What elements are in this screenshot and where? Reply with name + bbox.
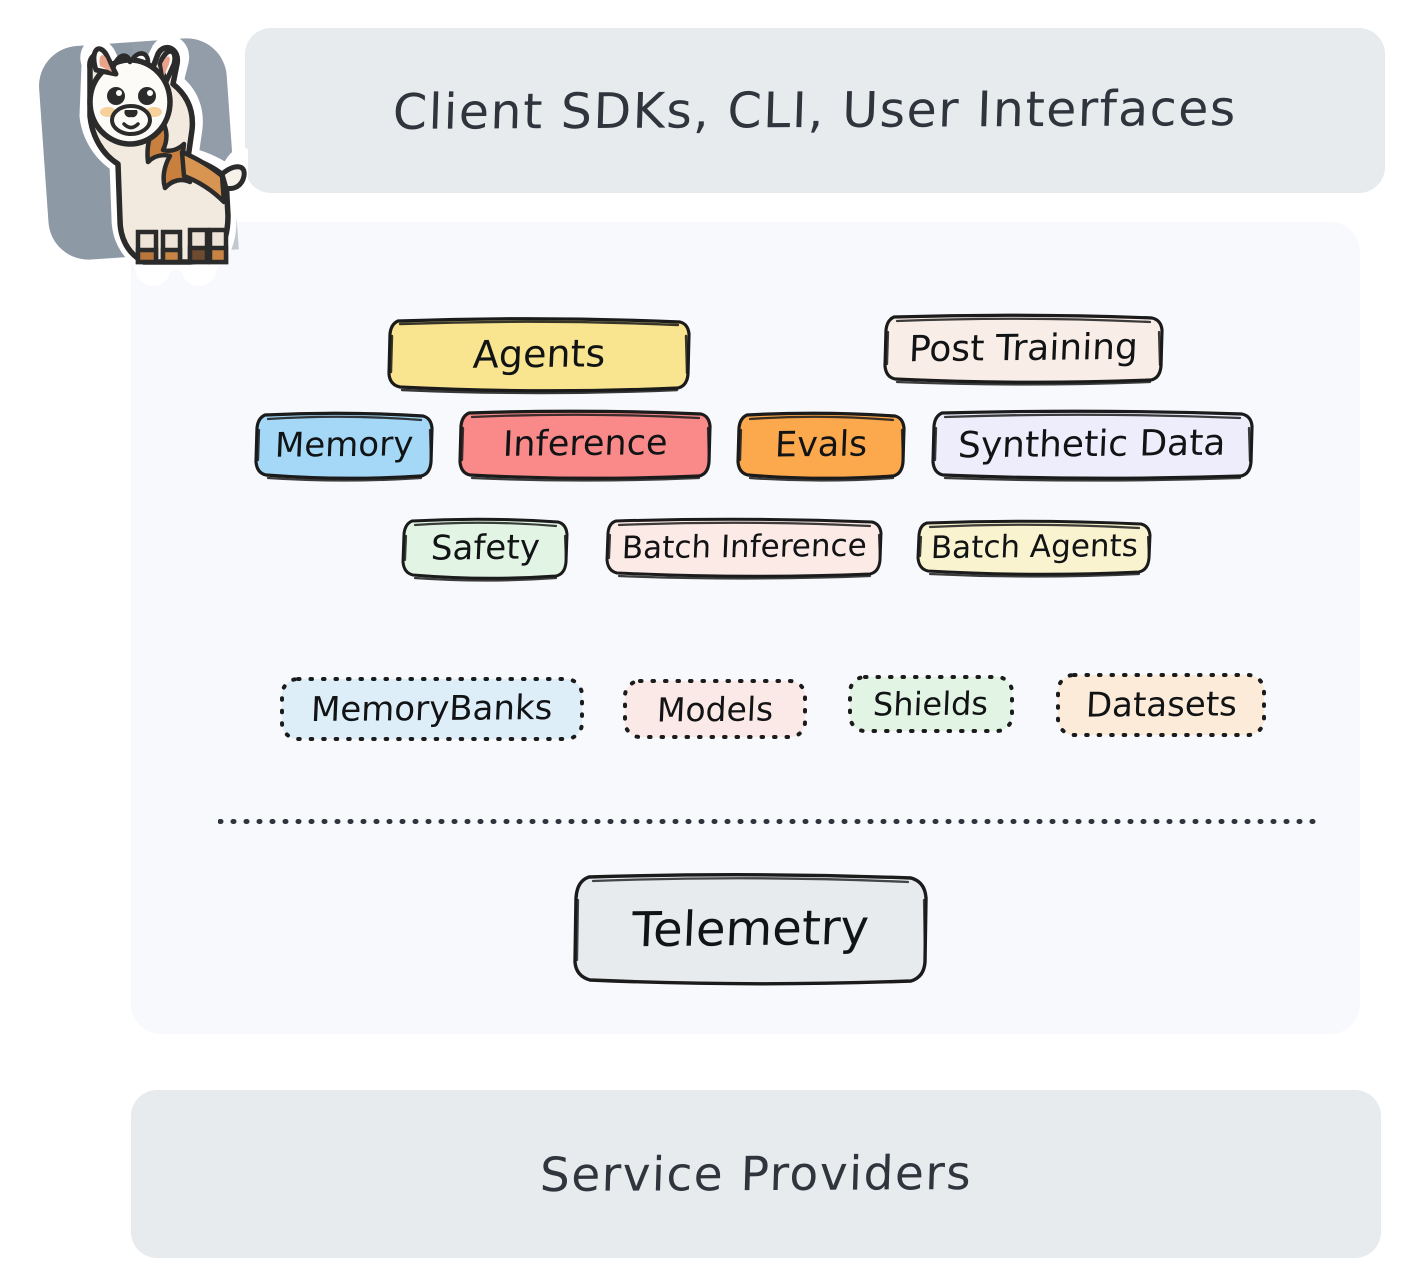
resource-box-label: MemoryBanks xyxy=(310,688,553,730)
api-box-safety[interactable]: Safety xyxy=(398,516,572,580)
bottom-banner-label: Service Providers xyxy=(539,1146,973,1203)
api-box-batch-agents[interactable]: Batch Agents xyxy=(913,518,1155,576)
api-box-label: Memory xyxy=(274,424,414,465)
api-box-label: Post Training xyxy=(908,326,1139,369)
api-box-telemetry[interactable]: Telemetry xyxy=(567,872,933,986)
bottom-banner: Service Providers xyxy=(131,1090,1381,1258)
api-box-label: Batch Inference xyxy=(621,528,867,567)
api-box-memory[interactable]: Memory xyxy=(251,410,437,480)
resource-box-shields[interactable]: Shields xyxy=(845,672,1017,736)
api-box-label: Telemetry xyxy=(630,900,869,958)
api-box-label: Safety xyxy=(430,527,540,568)
resource-box-label: Models xyxy=(656,689,774,729)
api-box-label: Agents xyxy=(472,331,606,376)
api-box-label: Evals xyxy=(774,425,868,466)
diagram-canvas: Client SDKs, CLI, User Interfaces xyxy=(0,0,1410,1268)
llama-logo-icon xyxy=(28,24,248,286)
api-box-label: Synthetic Data xyxy=(957,422,1226,466)
resource-box-memorybanks[interactable]: MemoryBanks xyxy=(277,674,587,744)
api-box-synthetic-data[interactable]: Synthetic Data xyxy=(926,408,1258,480)
resource-box-label: Shields xyxy=(873,684,990,723)
api-box-label: Inference xyxy=(502,423,668,465)
api-box-evals[interactable]: Evals xyxy=(733,410,909,480)
resource-box-models[interactable]: Models xyxy=(620,676,810,742)
top-banner: Client SDKs, CLI, User Interfaces xyxy=(245,28,1385,193)
resource-box-label: Datasets xyxy=(1085,684,1238,725)
api-box-inference[interactable]: Inference xyxy=(455,408,715,480)
api-box-agents[interactable]: Agents xyxy=(384,316,694,392)
api-box-label: Batch Agents xyxy=(930,528,1138,566)
resource-box-datasets[interactable]: Datasets xyxy=(1053,670,1269,740)
top-banner-label: Client SDKs, CLI, User Interfaces xyxy=(392,80,1238,141)
api-box-post-training[interactable]: Post Training xyxy=(878,312,1168,384)
api-box-batch-inference[interactable]: Batch Inference xyxy=(602,516,886,578)
section-divider xyxy=(218,818,1322,825)
